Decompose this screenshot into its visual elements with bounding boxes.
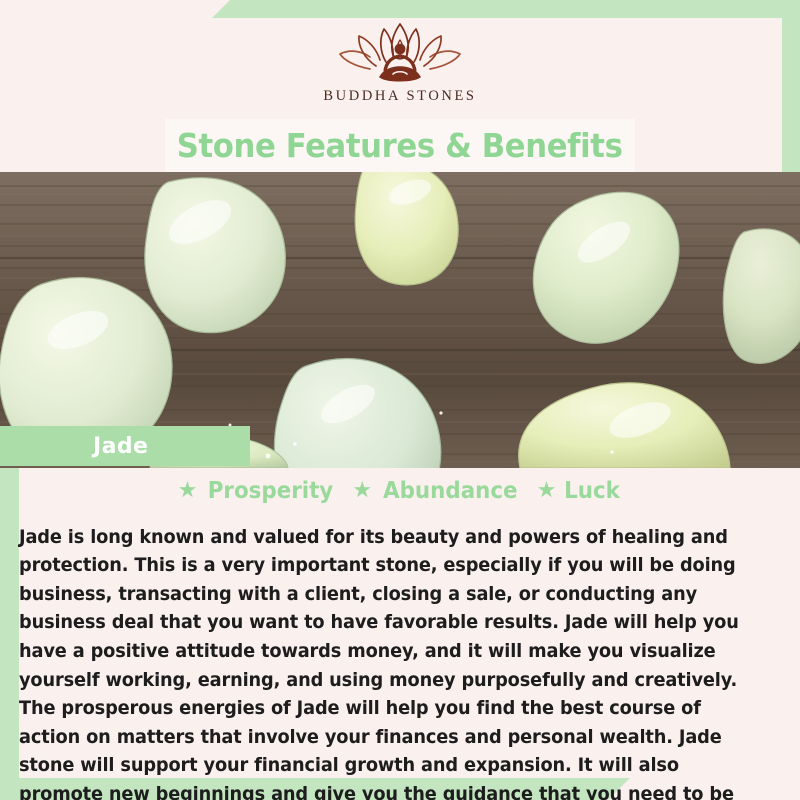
stone-name: Jade <box>93 434 148 459</box>
star-icon: ★ <box>352 479 372 501</box>
benefit-label: Luck <box>565 478 621 504</box>
benefits-row: ★ Prosperity ★ Abundance ★ Luck <box>0 478 800 504</box>
benefit-item-luck: ★ Luck <box>537 478 623 504</box>
title-banner: Stone Features & Benefits <box>165 119 635 172</box>
brand-header: BUDDHA STONES <box>0 0 800 118</box>
stone-info-card: BUDDHA STONES Stone Features & Benefits <box>0 0 800 800</box>
star-icon: ★ <box>178 479 198 501</box>
lotus-meditation-icon <box>336 22 464 84</box>
stone-name-banner: Jade <box>0 426 250 466</box>
benefit-label: Prosperity <box>208 478 334 504</box>
benefit-item-prosperity: ★ Prosperity <box>178 478 339 504</box>
brand-wordmark: BUDDHA STONES <box>323 88 476 105</box>
star-icon: ★ <box>537 479 557 501</box>
jade-stones-photo <box>0 172 800 468</box>
benefit-item-abundance: ★ Abundance <box>352 478 522 504</box>
benefit-label: Abundance <box>383 478 517 504</box>
page-title: Stone Features & Benefits <box>177 129 623 162</box>
stone-description: Jade is long known and valued for its be… <box>19 524 752 800</box>
